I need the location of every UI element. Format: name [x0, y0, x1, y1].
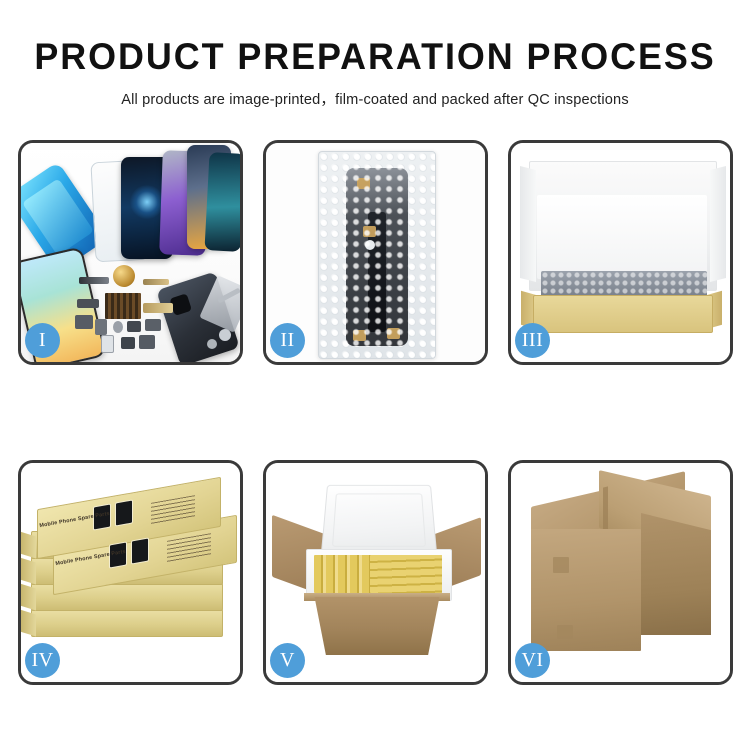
step-badge-4: IV	[25, 643, 60, 678]
box-screen-image-2	[115, 499, 133, 526]
small-part-6	[143, 303, 173, 313]
stacked-box-1	[31, 609, 223, 637]
camera-hole	[365, 240, 375, 250]
box-edge	[21, 584, 36, 611]
kraft-box-front	[533, 295, 713, 333]
infographic-page: PRODUCT PREPARATION PROCESS All products…	[0, 0, 750, 750]
tape-piece-1	[357, 178, 370, 189]
carton-tape-1	[553, 557, 569, 573]
header: PRODUCT PREPARATION PROCESS All products…	[0, 0, 750, 109]
small-part-7	[145, 319, 161, 331]
step-badge-3: III	[515, 323, 550, 358]
bubble-wrap-bag	[318, 151, 436, 359]
carton-front	[306, 597, 448, 655]
small-part-9	[121, 337, 135, 349]
process-step-card-6: VI	[508, 460, 733, 685]
process-step-grid: I II	[18, 140, 733, 685]
foam-box-lid	[321, 485, 438, 558]
step-badge-2: II	[270, 323, 305, 358]
page-subtitle: All products are image-printed，film-coat…	[0, 88, 750, 109]
small-part-13	[207, 339, 217, 349]
small-part-3	[95, 319, 107, 335]
small-part-1	[77, 299, 99, 308]
screw-grid-part	[105, 293, 141, 319]
small-part-5	[127, 321, 141, 332]
speaker-module-icon	[113, 265, 135, 287]
small-part-2	[75, 315, 93, 329]
box-edge	[21, 558, 36, 585]
tape-piece-2	[363, 226, 376, 237]
step-badge-6: VI	[515, 643, 550, 678]
process-step-card-2: II	[263, 140, 488, 365]
small-part-8	[101, 335, 114, 353]
carton-tape-2	[557, 625, 573, 639]
carton-face-right	[641, 513, 711, 635]
tape-piece-3	[353, 330, 366, 341]
process-step-card-1: I	[18, 140, 243, 365]
step-badge-5: V	[270, 643, 305, 678]
small-part-10	[139, 335, 155, 349]
box-edge	[21, 532, 36, 559]
kraft-box-stack: Mobile Phone Spare Parts Mobile Phone Sp…	[31, 487, 237, 667]
yellow-packs-row-2	[370, 555, 442, 593]
process-step-card-3: III	[508, 140, 733, 365]
gold-flex-part	[143, 279, 169, 285]
box-screen-image-4	[131, 537, 149, 564]
phone-teal	[204, 152, 240, 252]
process-step-card-4: Mobile Phone Spare Parts Mobile Phone Sp…	[18, 460, 243, 685]
small-part-4	[113, 321, 123, 333]
box-edge	[21, 610, 36, 637]
carton-face-left	[531, 529, 641, 651]
tape-piece-4	[387, 328, 400, 339]
flex-cable-part	[79, 277, 109, 284]
page-title: PRODUCT PREPARATION PROCESS	[11, 38, 739, 77]
step-badge-1: I	[25, 323, 60, 358]
small-part-12	[219, 329, 231, 341]
white-foam-sheet	[537, 195, 707, 279]
process-step-card-5: V	[263, 460, 488, 685]
